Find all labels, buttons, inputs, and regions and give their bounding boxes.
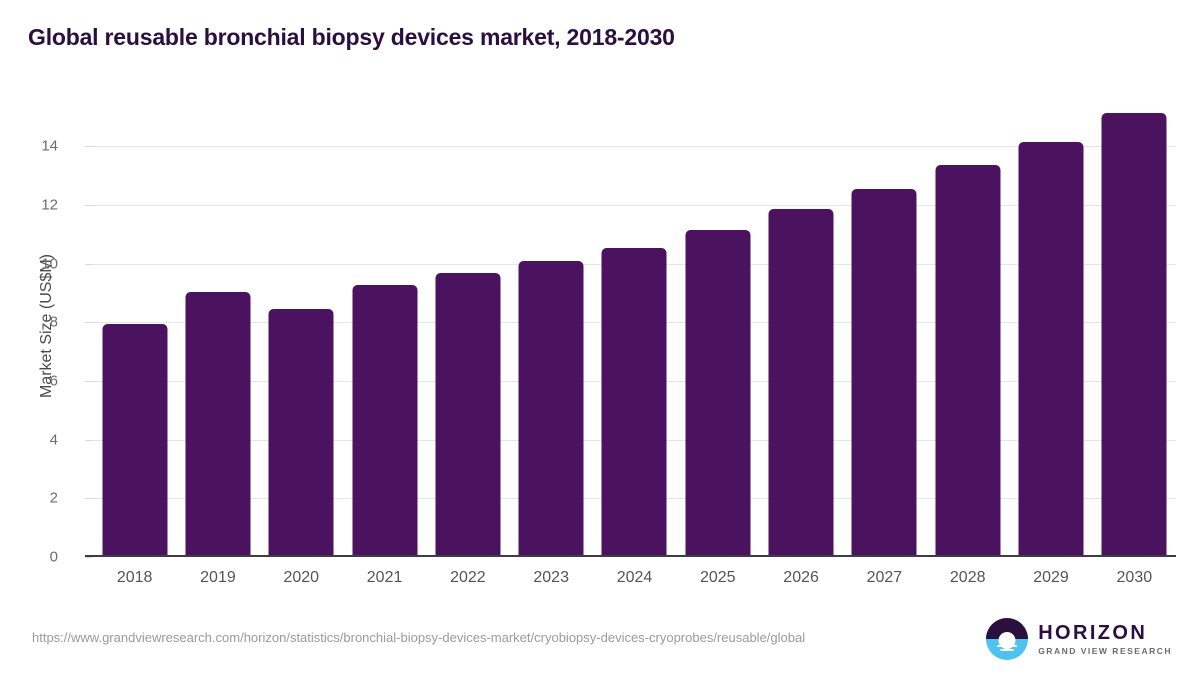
bar-2020[interactable] <box>269 309 334 557</box>
plot-area: Market Size (US$M) 02468101214 201820192… <box>93 95 1176 557</box>
bar-2023[interactable] <box>519 261 584 557</box>
bar-slot <box>1093 95 1176 557</box>
y-tick-label: 0 <box>0 549 58 566</box>
y-tick-label: 8 <box>0 314 58 331</box>
logo-name: HORIZON <box>1038 623 1172 643</box>
x-tick-label: 2023 <box>510 569 593 587</box>
bar-slot <box>176 95 259 557</box>
chart-page: Global reusable bronchial biopsy devices… <box>0 0 1200 675</box>
bar-2027[interactable] <box>852 189 917 557</box>
x-tick-label: 2024 <box>593 569 676 587</box>
x-tick-label: 2029 <box>1009 569 1092 587</box>
bar-2029[interactable] <box>1019 142 1084 557</box>
horizon-logo-icon <box>986 618 1028 660</box>
source-url[interactable]: https://www.grandviewresearch.com/horizo… <box>32 628 942 647</box>
bar-slot <box>93 95 176 557</box>
y-tick-label: 6 <box>0 373 58 390</box>
bar-2024[interactable] <box>602 248 667 557</box>
bar-2030[interactable] <box>1102 113 1167 557</box>
bar-series <box>93 95 1176 557</box>
x-tick-label: 2028 <box>926 569 1009 587</box>
y-tick-mark <box>85 322 93 323</box>
y-tick-mark <box>85 557 93 558</box>
bar-2019[interactable] <box>185 292 250 557</box>
y-tick-mark <box>85 498 93 499</box>
horizon-logo[interactable]: HORIZON GRAND VIEW RESEARCH <box>986 618 1172 660</box>
y-tick-label: 10 <box>0 255 58 272</box>
y-tick-mark <box>85 440 93 441</box>
bar-2026[interactable] <box>769 209 834 557</box>
bar-slot <box>759 95 842 557</box>
bar-slot <box>260 95 343 557</box>
bar-slot <box>593 95 676 557</box>
bar-slot <box>926 95 1009 557</box>
y-tick-mark <box>85 381 93 382</box>
page-title: Global reusable bronchial biopsy devices… <box>28 24 675 51</box>
x-tick-label: 2021 <box>343 569 426 587</box>
y-tick-mark <box>85 205 93 206</box>
y-tick-mark <box>85 264 93 265</box>
x-tick-label: 2019 <box>176 569 259 587</box>
y-tick-label: 14 <box>0 138 58 155</box>
y-tick-label: 12 <box>0 197 58 214</box>
y-tick-mark <box>85 146 93 147</box>
bar-slot <box>426 95 509 557</box>
chart-canvas: Market Size (US$M) 02468101214 201820192… <box>0 95 1200 595</box>
bar-2022[interactable] <box>435 273 500 557</box>
bar-slot <box>843 95 926 557</box>
bar-2028[interactable] <box>935 165 1000 557</box>
x-tick-label: 2020 <box>260 569 343 587</box>
x-tick-label: 2025 <box>676 569 759 587</box>
bar-2018[interactable] <box>102 324 167 557</box>
bar-2021[interactable] <box>352 285 417 557</box>
bar-2025[interactable] <box>685 230 750 557</box>
y-tick-label: 4 <box>0 431 58 448</box>
bar-slot <box>1009 95 1092 557</box>
bar-slot <box>343 95 426 557</box>
x-tick-label: 2030 <box>1093 569 1176 587</box>
x-tick-label: 2018 <box>93 569 176 587</box>
x-tick-label: 2022 <box>426 569 509 587</box>
y-tick-label: 2 <box>0 490 58 507</box>
logo-subtitle: GRAND VIEW RESEARCH <box>1038 647 1172 656</box>
x-tick-label: 2027 <box>843 569 926 587</box>
x-axis-line <box>85 555 1176 557</box>
bar-slot <box>676 95 759 557</box>
x-tick-label: 2026 <box>759 569 842 587</box>
bar-slot <box>510 95 593 557</box>
